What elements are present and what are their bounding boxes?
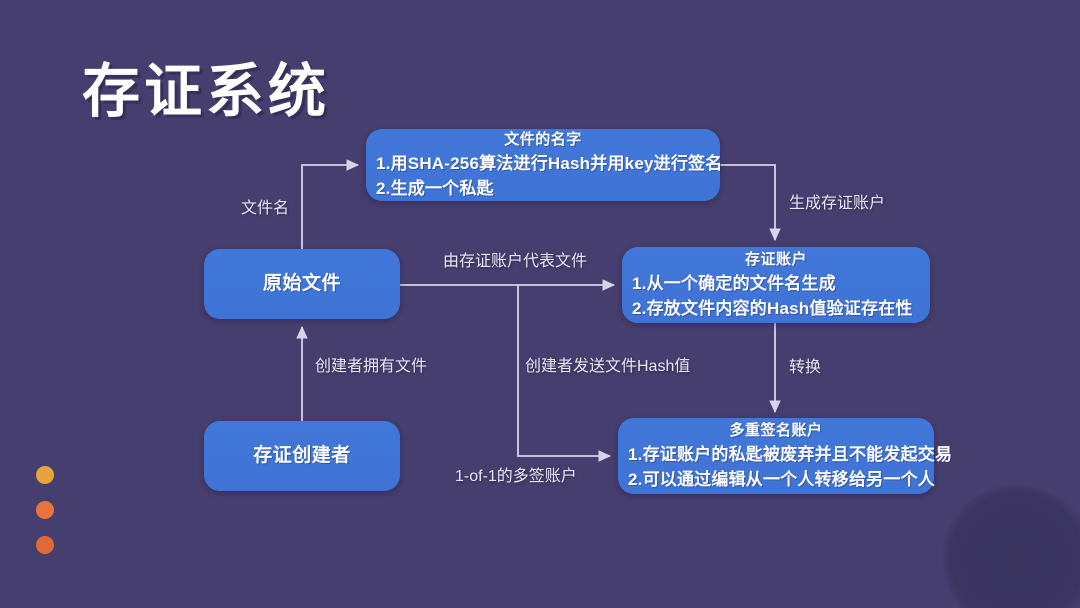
decorative-dot-1 bbox=[36, 466, 54, 484]
decorative-dot-2 bbox=[36, 501, 54, 519]
node-deposit-account-line-2: 2.存放文件内容的Hash值验证存在性 bbox=[632, 296, 920, 321]
node-deposit-account-line-1: 1.从一个确定的文件名生成 bbox=[632, 271, 920, 296]
node-creator-title: 存证创建者 bbox=[214, 443, 390, 469]
node-original-file-title: 原始文件 bbox=[214, 271, 390, 297]
node-creator[interactable]: 存证创建者 bbox=[204, 421, 400, 491]
node-deposit-account-title: 存证账户 bbox=[632, 249, 920, 271]
slide-canvas: 存证系统 文件的名字 1.用SHA-256算法进行Hash并用key进行签名 bbox=[0, 0, 1080, 608]
edge-label-creator-sends-hash: 创建者发送文件Hash值 bbox=[525, 357, 690, 377]
edge-label-convert: 转换 bbox=[789, 358, 821, 378]
node-filename-title: 文件的名字 bbox=[376, 129, 710, 151]
edge-label-creator-owns-file: 创建者拥有文件 bbox=[315, 357, 427, 377]
node-multisig-account-line-2: 2.可以通过编辑从一个人转移给另一个人 bbox=[628, 467, 924, 492]
corner-watermark bbox=[942, 484, 1080, 608]
node-multisig-account[interactable]: 多重签名账户 1.存证账户的私匙被废弃并且不能发起交易 2.可以通过编辑从一个人… bbox=[618, 418, 934, 494]
node-original-file[interactable]: 原始文件 bbox=[204, 249, 400, 319]
node-deposit-account[interactable]: 存证账户 1.从一个确定的文件名生成 2.存放文件内容的Hash值验证存在性 bbox=[622, 247, 930, 323]
node-multisig-account-title: 多重签名账户 bbox=[628, 420, 924, 442]
edge-label-generate-account: 生成存证账户 bbox=[789, 194, 885, 214]
node-filename[interactable]: 文件的名字 1.用SHA-256算法进行Hash并用key进行签名 2.生成一个… bbox=[366, 129, 720, 201]
node-filename-line-2: 2.生成一个私匙 bbox=[376, 176, 710, 201]
decorative-dot-3 bbox=[36, 536, 54, 554]
edge-label-filename: 文件名 bbox=[241, 199, 289, 219]
node-multisig-account-line-1: 1.存证账户的私匙被废弃并且不能发起交易 bbox=[628, 442, 924, 467]
edge-label-represent-file: 由存证账户代表文件 bbox=[443, 252, 587, 272]
node-filename-line-1: 1.用SHA-256算法进行Hash并用key进行签名 bbox=[376, 151, 710, 176]
page-title: 存证系统 bbox=[82, 44, 330, 128]
edge-label-multisig-type: 1-of-1的多签账户 bbox=[455, 467, 577, 487]
